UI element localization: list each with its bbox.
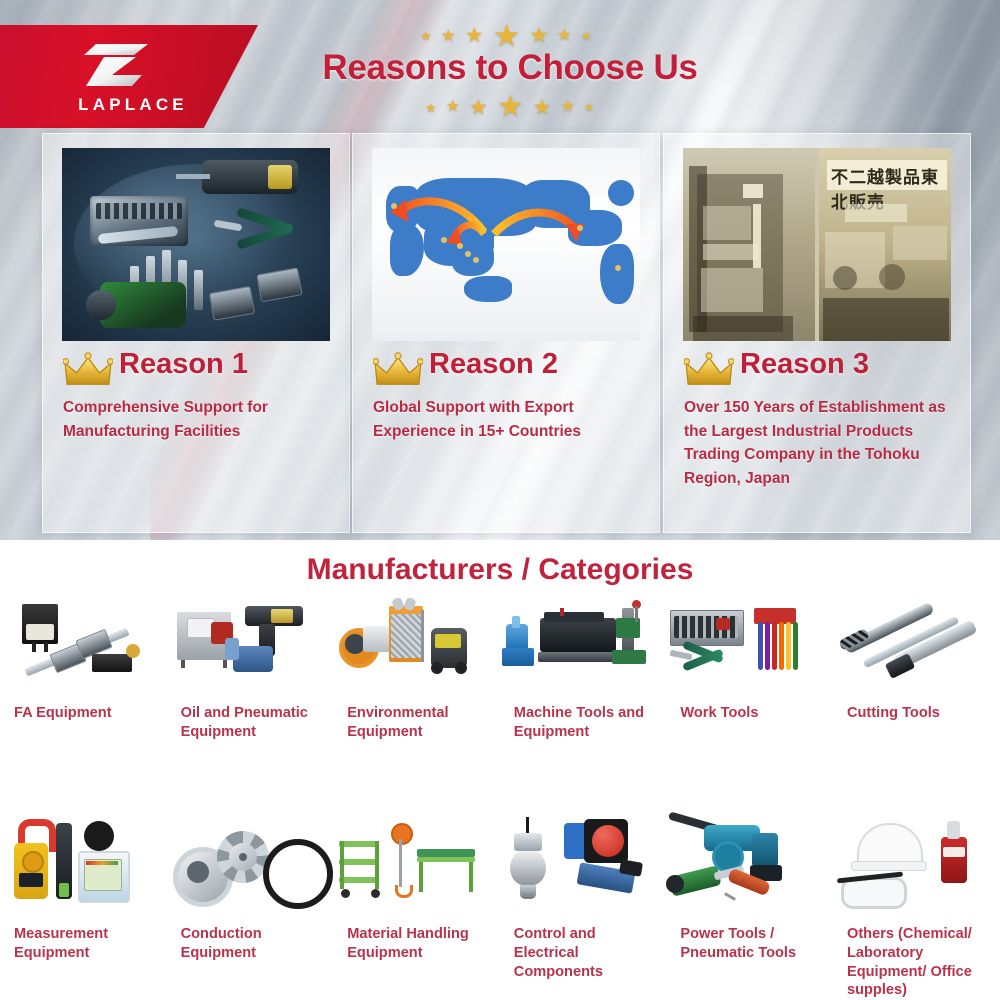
power-tools-thumbnail [666, 813, 833, 925]
reason-card-2: Reason 2 Global Support with Export Expe… [352, 133, 660, 533]
star-icon: ★ [533, 97, 552, 118]
categories-row: FA Equipment Oil and Pneumatic Equipment [0, 592, 1000, 741]
category-label: Oil and Pneumatic Equipment [167, 704, 334, 741]
conduction-equipment-thumbnail [167, 813, 334, 925]
star-icon: ★ [465, 25, 484, 46]
control-electrical-thumbnail [500, 813, 667, 925]
export-route-arrows [372, 148, 640, 341]
others-chemical-lab-thumbnail [833, 813, 1000, 925]
oil-pneumatic-equipment-thumbnail [167, 592, 334, 704]
star-icon: ★ [446, 99, 460, 115]
reason-description: Comprehensive Support for Manufacturing … [63, 396, 341, 443]
category-item-machine-tools-and-equipment[interactable]: Machine Tools and Equipment [500, 592, 667, 741]
category-label: Control and Electrical Components [500, 925, 667, 981]
star-icon: ★ [425, 101, 437, 114]
page-title: Reasons to Choose Us [300, 48, 720, 88]
star-icon: ★ [469, 97, 488, 118]
star-icon: ★ [497, 92, 524, 122]
star-icon: ★ [584, 101, 595, 113]
category-label: Measurement Equipment [0, 925, 167, 962]
category-item-control-and-electrical-components[interactable]: Control and Electrical Components [500, 813, 667, 1000]
category-label: Others (Chemical/ Laboratory Equipment/ … [833, 925, 1000, 1000]
category-label: Environmental Equipment [333, 704, 500, 741]
historic-building-photo [683, 148, 815, 341]
category-label: Conduction Equipment [167, 925, 334, 962]
star-icon: ★ [441, 27, 456, 44]
reason-label: Reason 1 [119, 348, 248, 381]
reason-label: Reason 3 [740, 348, 869, 381]
fa-equipment-thumbnail [0, 592, 167, 704]
category-item-others-chemical-laboratory-office[interactable]: Others (Chemical/ Laboratory Equipment/ … [833, 813, 1000, 1000]
reason-card-3: 不二越製品東北販売 [663, 133, 971, 533]
reason-description: Global Support with Export Experience in… [373, 396, 651, 443]
category-label: Power Tools / Pneumatic Tools [666, 925, 833, 962]
category-item-fa-equipment[interactable]: FA Equipment [0, 592, 167, 741]
category-item-material-handling-equipment[interactable]: Material Handling Equipment [333, 813, 500, 1000]
reason-label: Reason 2 [429, 348, 558, 381]
category-item-environmental-equipment[interactable]: Environmental Equipment [333, 592, 500, 741]
category-label: Material Handling Equipment [333, 925, 500, 962]
cutting-tools-thumbnail [833, 592, 1000, 704]
category-label: Machine Tools and Equipment [500, 704, 667, 741]
material-handling-thumbnail [333, 813, 500, 925]
industrial-tools-collage-image [62, 148, 330, 341]
world-map-export-routes-image [372, 148, 640, 341]
categories-grid: FA Equipment Oil and Pneumatic Equipment [0, 592, 1000, 1000]
promo-page: LAPLACE ★ ★ ★ ★ ★ ★ ★ ★ ★ ★ ★ ★ ★ ★ Reas… [0, 0, 1000, 1000]
environmental-equipment-thumbnail [333, 592, 500, 704]
crown-icon [373, 352, 423, 395]
category-item-work-tools[interactable]: Work Tools [666, 592, 833, 741]
brand-wordmark: LAPLACE [58, 95, 208, 115]
star-icon: ★ [493, 20, 521, 51]
categories-title: Manufacturers / Categories [0, 553, 1000, 587]
crown-icon [684, 352, 734, 395]
star-icon: ★ [581, 30, 592, 42]
reason-description: Over 150 Years of Establishment as the L… [684, 396, 962, 490]
star-icon: ★ [530, 25, 549, 46]
machine-tools-thumbnail [500, 592, 667, 704]
category-label: Work Tools [666, 704, 833, 723]
crown-icon [63, 352, 113, 395]
star-icon: ★ [561, 99, 575, 115]
category-item-conduction-equipment[interactable]: Conduction Equipment [167, 813, 334, 1000]
work-tools-thumbnail [666, 592, 833, 704]
category-item-oil-and-pneumatic-equipment[interactable]: Oil and Pneumatic Equipment [167, 592, 334, 741]
categories-row: Measurement Equipment Conduction Equipme… [0, 813, 1000, 1000]
category-label: Cutting Tools [833, 704, 1000, 723]
category-label: FA Equipment [0, 704, 167, 723]
measurement-equipment-thumbnail [0, 813, 167, 925]
star-icon: ★ [420, 29, 432, 42]
stars-bottom-row: ★ ★ ★ ★ ★ ★ ★ [425, 92, 595, 122]
reason-card-1: Reason 1 Comprehensive Support for Manuf… [42, 133, 350, 533]
star-icon: ★ [557, 28, 571, 44]
reasons-card-group: Reason 1 Comprehensive Support for Manuf… [0, 133, 1000, 533]
historic-showroom-photo: 不二越製品東北販売 [819, 148, 951, 341]
historic-storefront-photos-image: 不二越製品東北販売 [683, 148, 951, 341]
category-item-measurement-equipment[interactable]: Measurement Equipment [0, 813, 167, 1000]
category-item-cutting-tools[interactable]: Cutting Tools [833, 592, 1000, 741]
stars-top-row: ★ ★ ★ ★ ★ ★ ★ [420, 20, 591, 51]
laplace-z-logo-icon [82, 42, 154, 90]
category-item-power-tools-pneumatic-tools[interactable]: Power Tools / Pneumatic Tools [666, 813, 833, 1000]
